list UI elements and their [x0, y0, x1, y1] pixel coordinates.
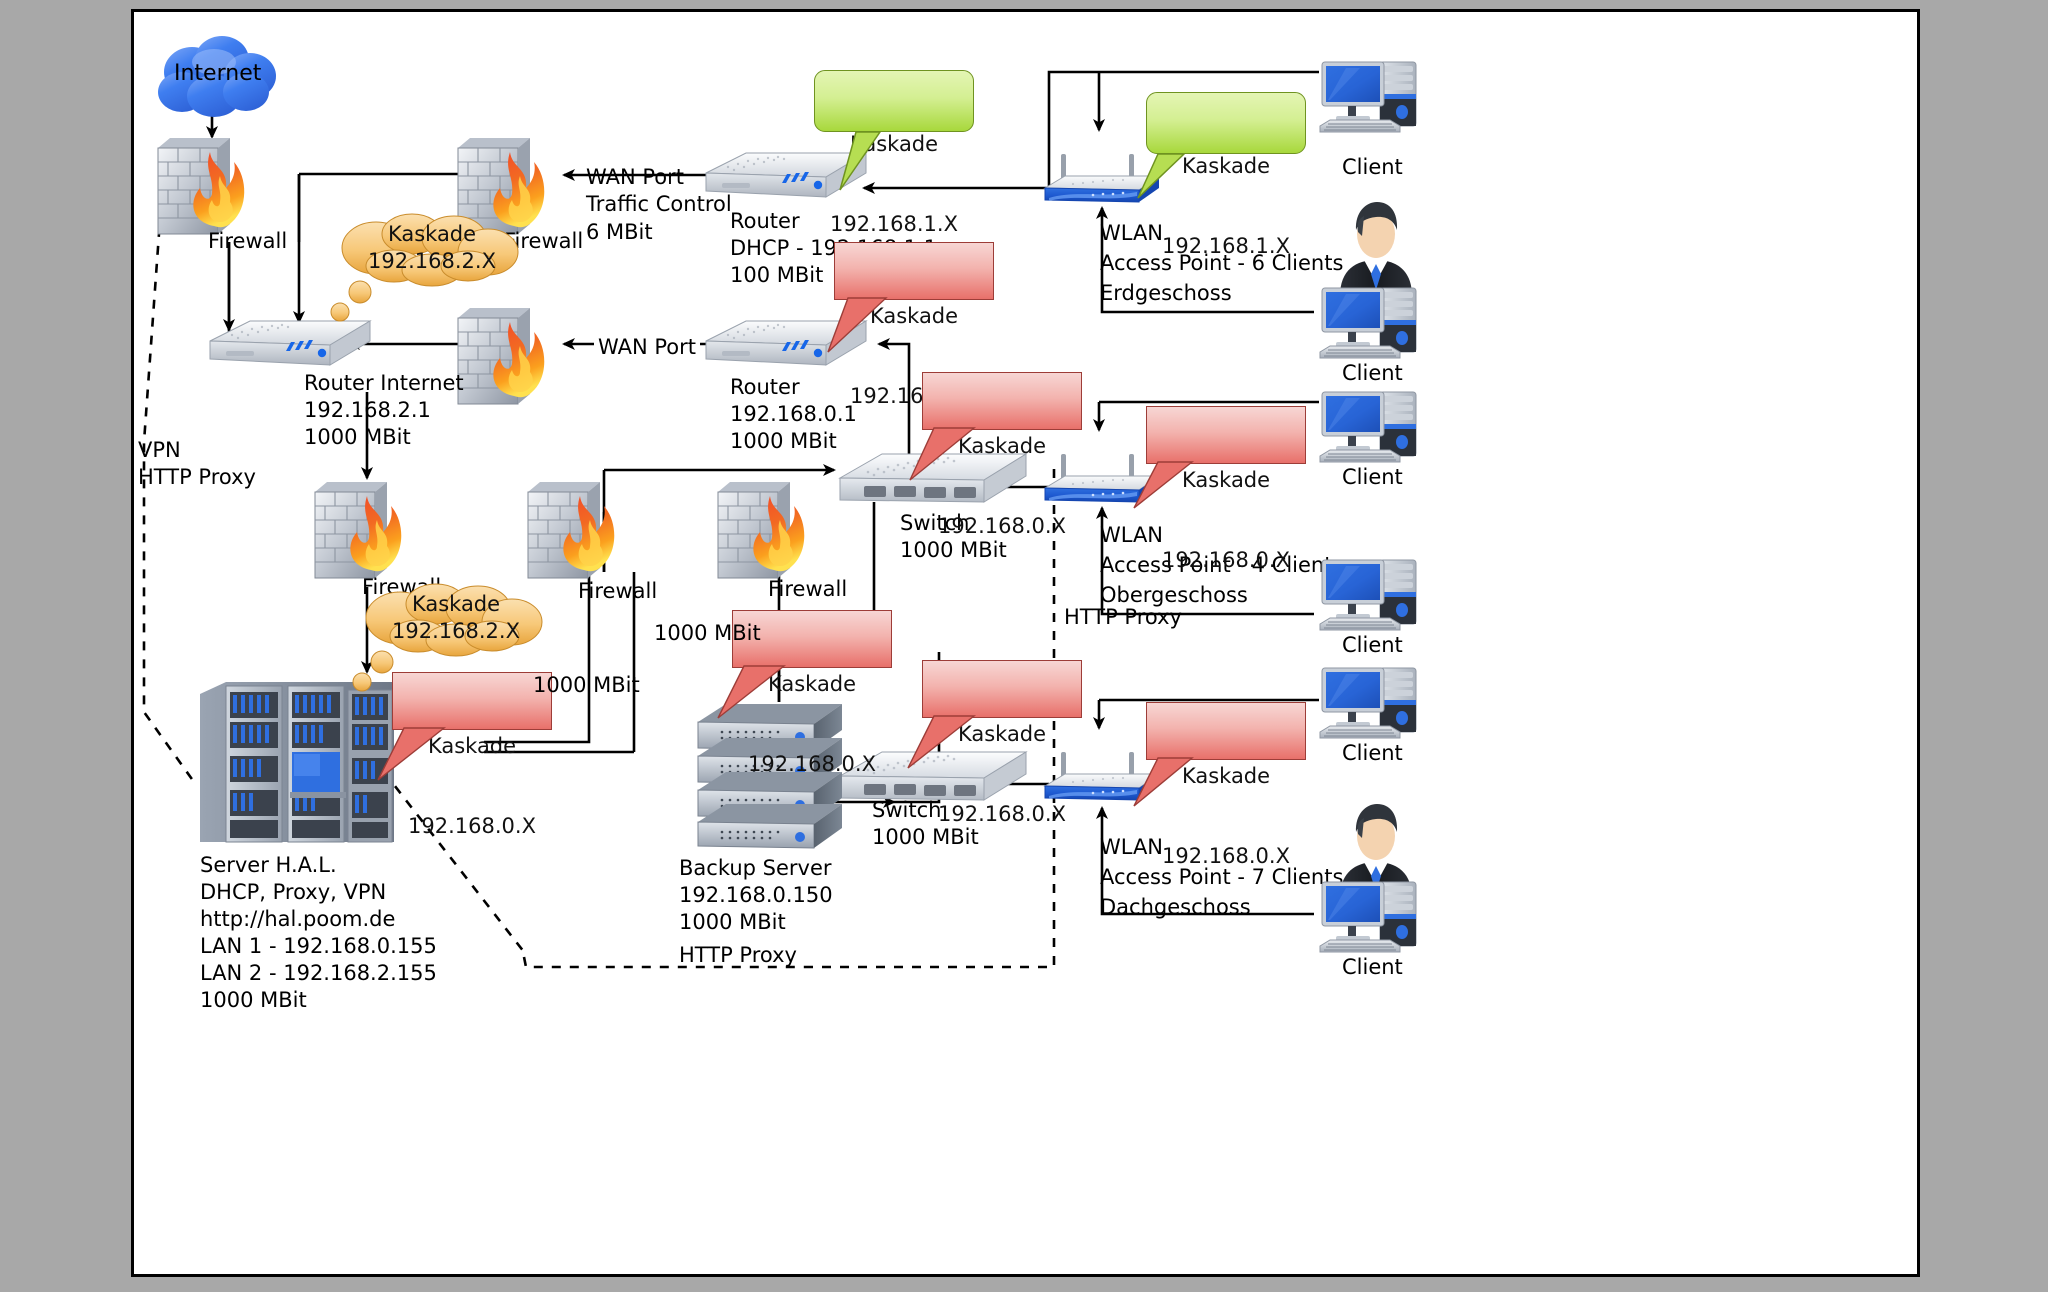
firewall-label-5: Firewall — [768, 576, 847, 603]
router-top-line3: 100 MBit — [730, 262, 823, 289]
callout-red-wlan-og: Kaskade 192.168.0.X — [1146, 406, 1306, 464]
callout-red-switch-upper-line2: 192.168.0.X — [935, 513, 1069, 540]
callout-red-router-zero-tail — [806, 294, 906, 358]
switch-lower-line1: Switch — [872, 797, 941, 824]
server-hal-line3: http://hal.poom.de — [200, 906, 395, 933]
callout-red-switch-lower: Kaskade 192.168.0.X — [922, 660, 1082, 718]
server-hal-line5: LAN 2 - 192.168.2.155 — [200, 960, 437, 987]
thought-cloud-top-line2: 192.168.2.X — [368, 248, 496, 275]
callout-red-wlan-og-tail — [1112, 458, 1212, 514]
router-zero-line3: 1000 MBit — [730, 428, 837, 455]
backup-server-line1: Backup Server — [679, 855, 832, 882]
thought-cloud-top: Kaskade 192.168.2.X — [332, 212, 532, 284]
callout-green-wlan-eg-line2: 192.168.1.X — [1159, 233, 1293, 260]
edge-label-speed-backup: 1000 MBit — [654, 620, 761, 647]
router-zero-line1: Router — [730, 374, 800, 401]
router-internet-line3: 1000 MBit — [304, 424, 411, 451]
callout-red-backup-tail — [696, 662, 806, 724]
wlan-obergeschoss-line1: WLAN — [1100, 522, 1163, 549]
firewall-label-4: Firewall — [578, 578, 657, 605]
callout-red-switch-lower-line2: 192.168.0.X — [935, 801, 1069, 828]
callout-red-switch-lower-tail — [886, 712, 996, 774]
callout-red-server-hal-tail — [356, 724, 466, 786]
firewall-icon-3 — [452, 300, 572, 412]
callout-red-wlan-dg-tail — [1112, 754, 1212, 812]
thought-cloud-bottom-line2: 192.168.2.X — [392, 618, 520, 645]
callout-red-switch-upper-tail — [886, 424, 996, 486]
server-hal-line2: DHCP, Proxy, VPN — [200, 879, 386, 906]
callout-red-server-hal: Kaskade 192.168.0.X — [392, 672, 552, 730]
edge-label-speed-server-right: 1000 MBit — [533, 672, 640, 699]
thought-cloud-bottom: Kaskade 192.168.2.X — [356, 582, 556, 654]
firewall-icon-5 — [522, 474, 642, 586]
callout-red-wlan-dg: Kaskade 192.168.0.X — [1146, 702, 1306, 760]
callout-red-router-zero: Kaskade 192.168.0.X — [834, 242, 994, 300]
server-hal-line4: LAN 1 - 192.168.0.155 — [200, 933, 437, 960]
firewall-icon-6 — [712, 474, 832, 586]
firewall-icon-1 — [152, 130, 272, 242]
callout-green-wlan-eg: Kaskade 192.168.1.X — [1146, 92, 1306, 154]
edge-label-wan-traffic-control: WAN Port Traffic Control 6 MBit — [586, 164, 732, 246]
edge-label-wan-port: WAN Port — [594, 334, 700, 361]
internet-label: Internet — [174, 60, 261, 89]
client-pc-icon-1 — [1316, 54, 1436, 150]
firewall-label-1: Firewall — [208, 228, 287, 255]
screenshot-stage: Internet — [0, 0, 2048, 1292]
server-hal-line1: Server H.A.L. — [200, 852, 337, 879]
edge-label-vpn-http-proxy: VPN HTTP Proxy — [138, 437, 256, 492]
client-label-6: Client — [1342, 954, 1403, 981]
router-internet-line1: Router Internet — [304, 370, 464, 397]
client-label-5: Client — [1342, 740, 1403, 767]
edge-label-http-proxy-right: HTTP Proxy — [1064, 604, 1182, 631]
thought-cloud-top-line1: Kaskade — [388, 221, 476, 248]
firewall-icon-4 — [309, 474, 429, 586]
wlan-dachgeschoss-line1: WLAN — [1100, 834, 1163, 861]
thought-bubble-trail-top — [326, 280, 386, 330]
wlan-erdgeschoss-line1: WLAN — [1100, 220, 1163, 247]
backup-server-line2: 192.168.0.150 — [679, 882, 833, 909]
edge-label-http-proxy-bottom: HTTP Proxy — [679, 942, 797, 969]
callout-red-backup-line2: 192.168.0.X — [745, 751, 879, 778]
backup-server-line3: 1000 MBit — [679, 909, 786, 936]
callout-red-server-hal-line2: 192.168.0.X — [405, 813, 539, 840]
callout-green-wlan-eg-tail — [1114, 146, 1204, 206]
callout-green-router-top-tail — [794, 124, 884, 198]
callout-green-router-top: Kaskade 192.168.1.X — [814, 70, 974, 132]
network-diagram-canvas: Internet — [131, 9, 1920, 1277]
callout-red-wlan-dg-line2: 192.168.0.X — [1159, 843, 1293, 870]
client-label-3: Client — [1342, 464, 1403, 491]
server-hal-line6: 1000 MBit — [200, 987, 307, 1014]
thought-cloud-bottom-line1: Kaskade — [412, 591, 500, 618]
router-top-line1: Router — [730, 208, 800, 235]
client-label-4: Client — [1342, 632, 1403, 659]
callout-red-switch-upper: Kaskade 192.168.0.X — [922, 372, 1082, 430]
router-zero-line2: 192.168.0.1 — [730, 401, 857, 428]
router-internet-line2: 192.168.2.1 — [304, 397, 431, 424]
client-label-1: Client — [1342, 154, 1403, 181]
callout-green-router-top-line2: 192.168.1.X — [827, 211, 961, 238]
callout-red-wlan-og-line2: 192.168.0.X — [1159, 547, 1293, 574]
